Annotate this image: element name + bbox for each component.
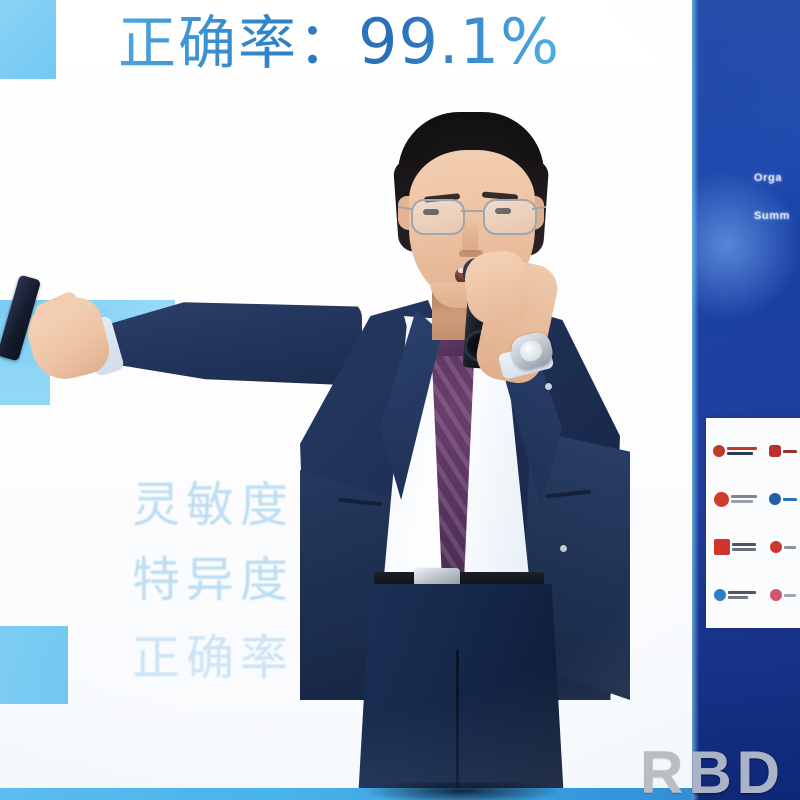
sponsor-logo-5 bbox=[713, 525, 757, 569]
right-hand bbox=[462, 249, 531, 327]
slide-bottom-strip bbox=[0, 788, 692, 800]
sponsor-logo-6-wordmark bbox=[784, 546, 796, 549]
trouser-seam bbox=[456, 650, 459, 800]
sponsor-logo-1-wordmark bbox=[727, 447, 757, 455]
sponsor-logo-7-wordmark bbox=[728, 591, 756, 599]
sponsor-logo-6-mark bbox=[770, 541, 782, 553]
sponsor-logo-8-wordmark bbox=[784, 594, 796, 597]
sponsor-logo-4 bbox=[761, 477, 800, 521]
eyeglass-bridge bbox=[461, 210, 483, 212]
sponsor-logo-grid bbox=[713, 429, 800, 617]
sponsor-logo-4-mark bbox=[769, 493, 781, 505]
sponsor-logo-2-mark bbox=[769, 445, 781, 457]
screenshot-root: 正确率：99.1% 灵敏度 特异度 正确率 bbox=[0, 0, 800, 800]
left-arm bbox=[92, 300, 362, 410]
sponsor-logo-6 bbox=[761, 525, 800, 569]
sponsor-logo-3 bbox=[713, 477, 757, 521]
sponsor-logo-5-wordmark bbox=[732, 543, 756, 551]
trousers bbox=[358, 584, 564, 800]
sponsor-logo-2 bbox=[761, 429, 800, 473]
sponsor-logo-3-mark bbox=[714, 492, 729, 507]
banner-text-summit: Summ bbox=[754, 210, 790, 222]
sponsor-logo-8 bbox=[761, 573, 800, 617]
sponsor-logo-7-mark bbox=[714, 589, 726, 601]
banner-sheen bbox=[692, 0, 800, 800]
sponsor-logo-1-mark bbox=[713, 445, 725, 457]
banner-text-organizer: Orga bbox=[754, 172, 782, 184]
sponsor-logo-3-wordmark bbox=[731, 495, 757, 503]
eyeglass-lens-left bbox=[411, 199, 465, 235]
nose bbox=[462, 218, 478, 254]
floor-shadow bbox=[352, 782, 572, 800]
sponsor-logo-4-wordmark bbox=[783, 498, 797, 501]
event-banner: Orga Summ bbox=[692, 0, 800, 800]
sponsor-logo-8-mark bbox=[770, 589, 782, 601]
jacket-button-lower bbox=[560, 545, 567, 552]
sponsor-logo-5-mark bbox=[714, 539, 730, 555]
speaker-figure bbox=[0, 0, 692, 800]
banner-left-edge-highlight bbox=[692, 0, 699, 800]
sponsor-logo-1 bbox=[713, 429, 757, 473]
sponsor-logo-2-wordmark bbox=[783, 450, 797, 453]
eyeglass-lens-right bbox=[483, 199, 537, 235]
sponsor-logo-7 bbox=[713, 573, 757, 617]
sponsor-logo-panel bbox=[706, 418, 800, 628]
